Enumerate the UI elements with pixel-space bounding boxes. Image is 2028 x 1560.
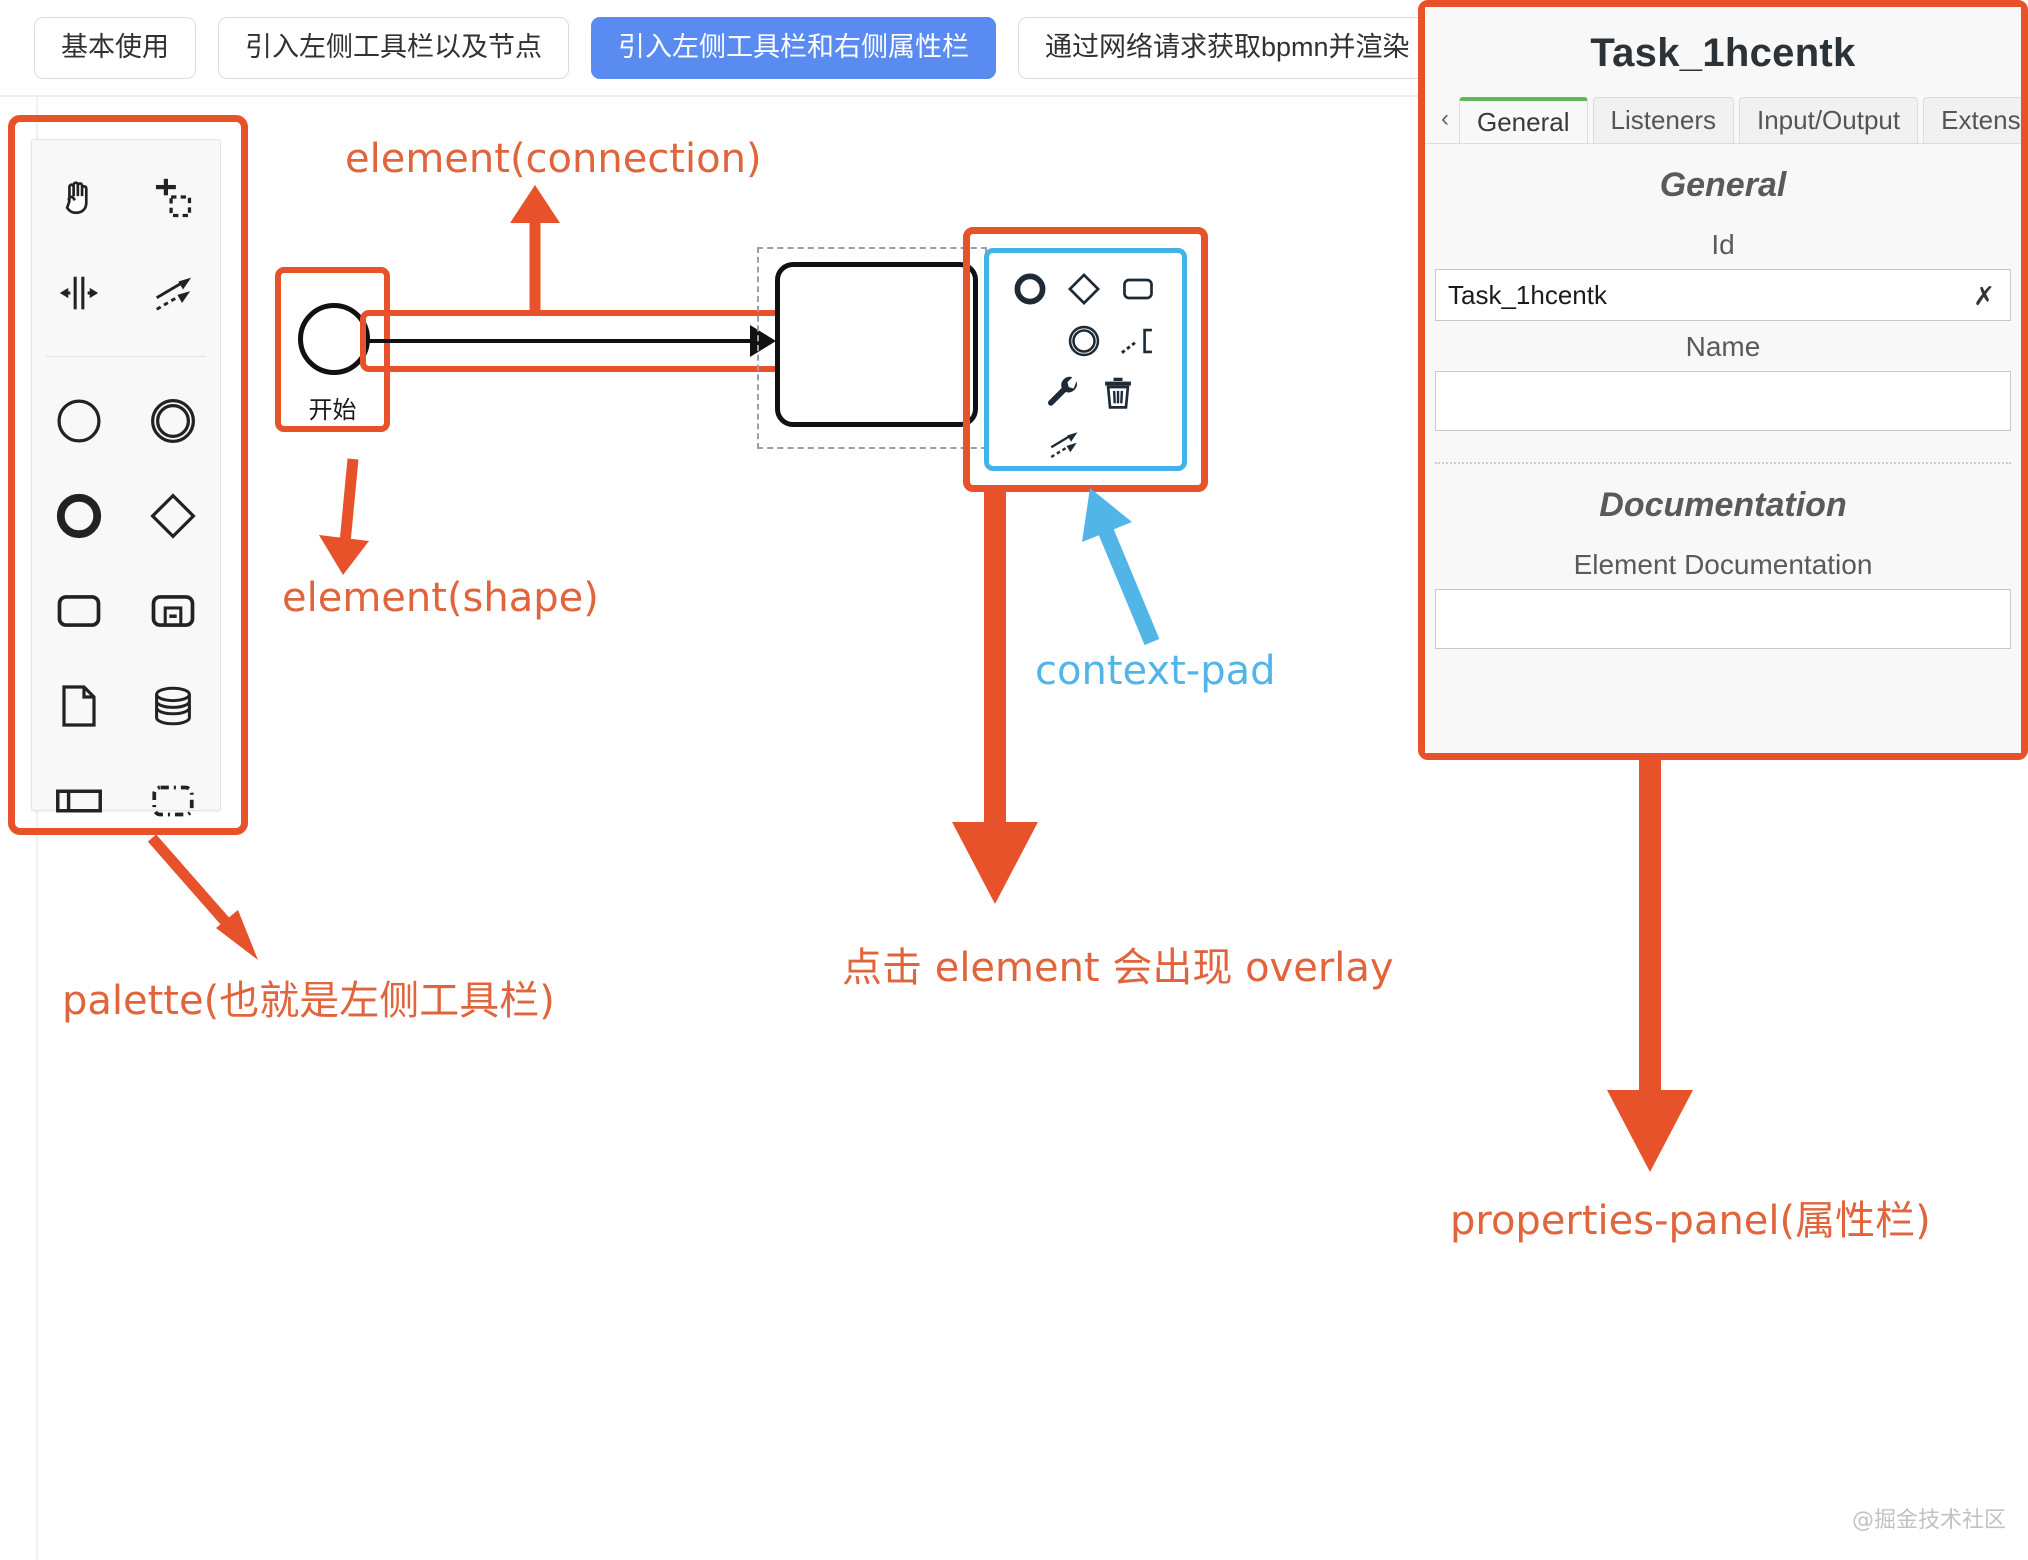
general-section-title: General — [1425, 144, 2021, 219]
append-intermediate-event-icon[interactable] — [1057, 315, 1111, 367]
start-event-label: 开始 — [275, 390, 390, 425]
element-documentation-wrapper — [1425, 589, 2021, 654]
properties-panel-title: Task_1hcentk — [1425, 7, 2021, 92]
annotation-properties-panel: properties-panel(属性栏) — [1450, 1188, 1931, 1246]
annotation-element-connection: element(connection) — [345, 136, 762, 182]
watermark: @掘金技术社区 — [1852, 1502, 2006, 1534]
global-connect-icon[interactable] — [126, 245, 220, 340]
palette-row — [32, 563, 220, 658]
palette[interactable] — [31, 139, 221, 811]
connect-icon[interactable] — [1037, 419, 1091, 471]
gateway-icon[interactable] — [126, 468, 220, 563]
name-input[interactable] — [1435, 371, 2011, 431]
element-documentation-input[interactable] — [1435, 589, 2011, 649]
annotation-palette: palette(也就是左侧工具栏) — [62, 968, 555, 1026]
append-text-annotation-icon[interactable] — [1111, 315, 1165, 367]
name-field-label: Name — [1425, 321, 2021, 371]
task-icon[interactable] — [32, 563, 126, 658]
id-field-label: Id — [1425, 219, 2021, 269]
subprocess-expanded-icon[interactable] — [126, 563, 220, 658]
wrench-icon[interactable] — [1037, 367, 1091, 419]
palette-row — [32, 150, 220, 245]
tab-basic-usage[interactable]: 基本使用 — [34, 17, 196, 79]
palette-row — [32, 658, 220, 753]
palette-elements-group — [32, 363, 220, 858]
task-shape[interactable] — [775, 262, 978, 427]
palette-row — [32, 245, 220, 340]
tab-palette-and-properties[interactable]: 引入左侧工具栏和右侧属性栏 — [591, 17, 996, 79]
id-input[interactable] — [1435, 269, 2011, 321]
id-field-wrapper: ✗ — [1425, 269, 2021, 321]
tab-general[interactable]: General — [1459, 97, 1588, 143]
data-store-icon[interactable] — [126, 658, 220, 753]
chevron-left-icon[interactable]: ‹ — [1435, 105, 1459, 143]
clear-id-icon[interactable]: ✗ — [1973, 281, 1995, 312]
end-event-icon[interactable] — [32, 468, 126, 563]
participant-icon[interactable] — [32, 753, 126, 848]
arrow-to-properties-panel — [1580, 760, 1720, 1180]
element-documentation-label: Element Documentation — [1425, 539, 2021, 589]
group-icon[interactable] — [126, 753, 220, 848]
append-gateway-icon[interactable] — [1057, 263, 1111, 315]
context-pad[interactable] — [984, 248, 1187, 471]
context-pad-row — [989, 367, 1182, 419]
palette-tools-group — [32, 140, 220, 350]
palette-divider — [46, 356, 206, 357]
start-event-icon[interactable] — [32, 373, 126, 468]
trash-icon[interactable] — [1091, 367, 1145, 419]
context-pad-row — [989, 419, 1182, 471]
palette-row — [32, 373, 220, 468]
context-pad-row — [989, 315, 1182, 367]
tab-bar: 基本使用 引入左侧工具栏以及节点 引入左侧工具栏和右侧属性栏 通过网络请求获取b… — [0, 0, 1420, 95]
tab-fetch-bpmn-render[interactable]: 通过网络请求获取bpmn并渲染 — [1018, 17, 1437, 79]
intermediate-event-icon[interactable] — [126, 373, 220, 468]
tab-input-output[interactable]: Input/Output — [1739, 97, 1918, 143]
tab-palette-and-nodes[interactable]: 引入左侧工具栏以及节点 — [218, 17, 569, 79]
annotation-overlay: 点击 element 会出现 overlay — [842, 935, 1394, 993]
palette-row — [32, 468, 220, 563]
palette-row — [32, 753, 220, 848]
tab-extensions[interactable]: Extensio — [1923, 97, 2021, 143]
tab-listeners[interactable]: Listeners — [1593, 97, 1735, 143]
lasso-tool-icon[interactable] — [126, 150, 220, 245]
annotation-element-shape: element(shape) — [282, 575, 599, 621]
sequence-flow-line[interactable] — [368, 339, 768, 343]
context-pad-row — [989, 263, 1182, 315]
space-tool-icon[interactable] — [32, 245, 126, 340]
data-object-icon[interactable] — [32, 658, 126, 753]
properties-panel-tabs: ‹ General Listeners Input/Output Extensi… — [1425, 92, 2021, 144]
documentation-section-title: Documentation — [1425, 464, 2021, 539]
name-field-wrapper — [1425, 371, 2021, 436]
properties-panel[interactable]: Task_1hcentk ‹ General Listeners Input/O… — [1425, 7, 2021, 753]
hand-tool-icon[interactable] — [32, 150, 126, 245]
annotation-context-pad: context-pad — [1035, 648, 1276, 694]
append-end-event-icon[interactable] — [1003, 263, 1057, 315]
append-task-icon[interactable] — [1111, 263, 1165, 315]
